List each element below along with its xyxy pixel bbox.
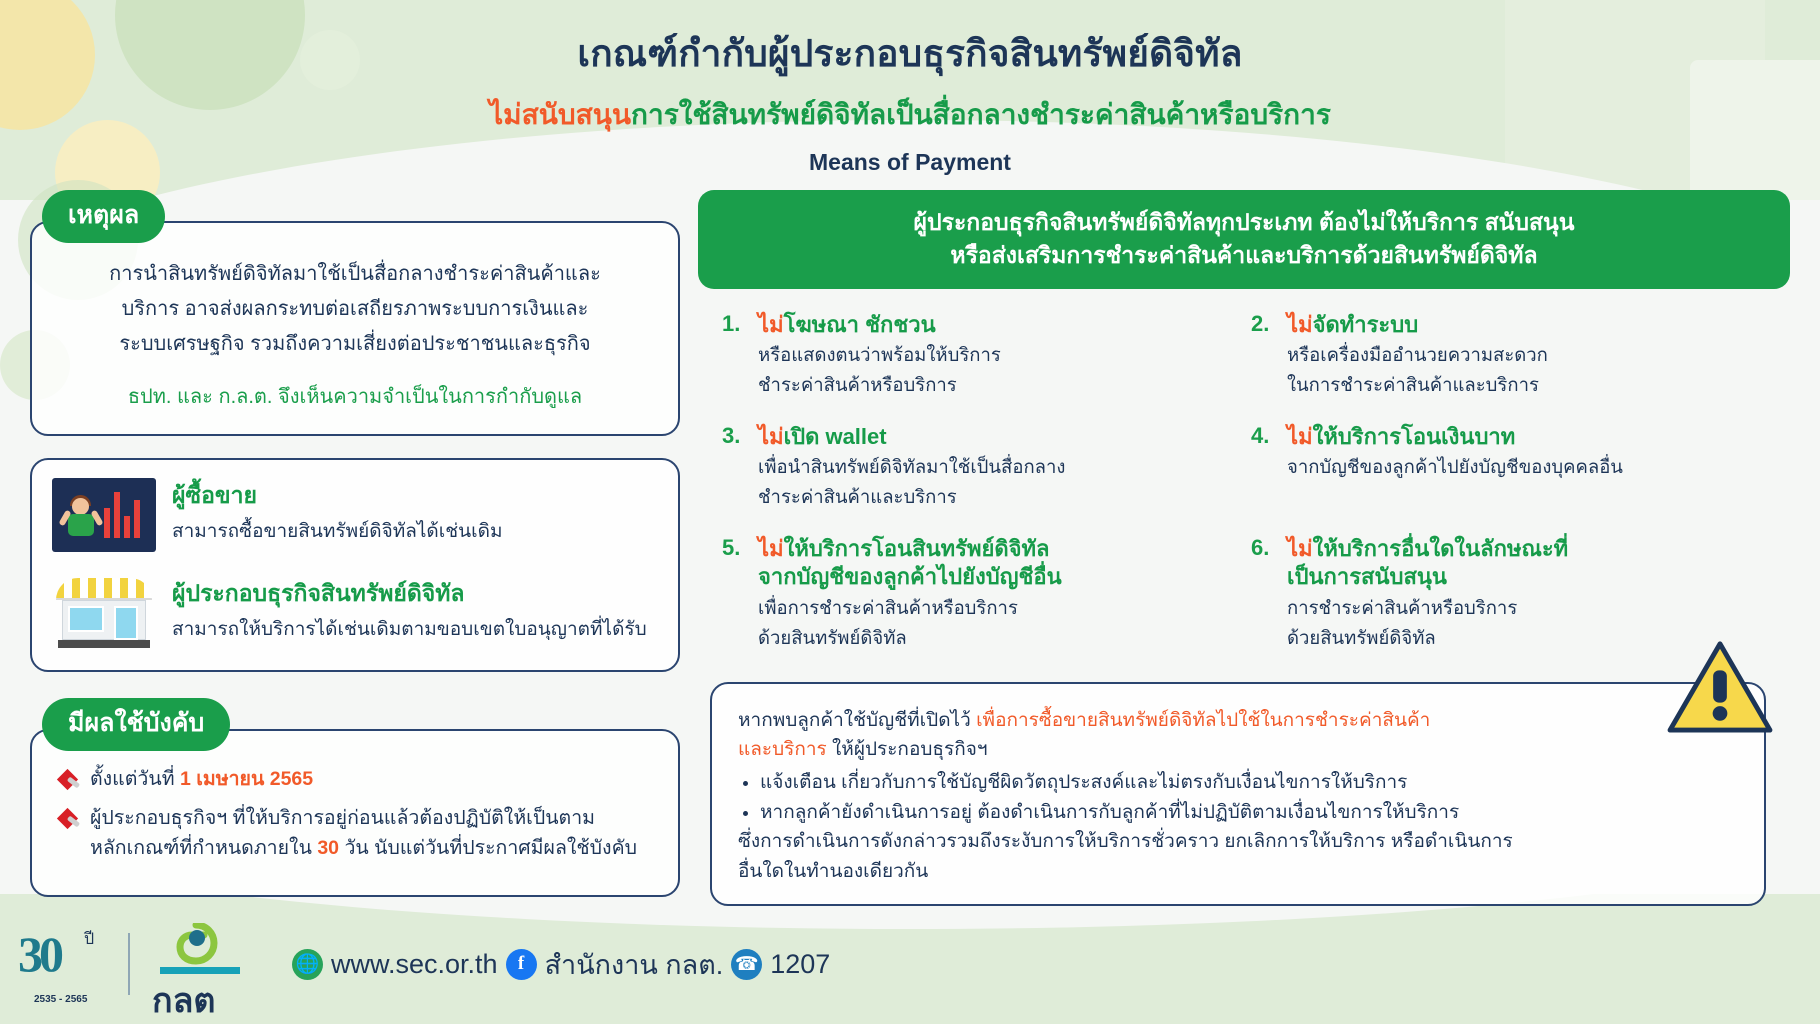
rule-number: 1. [722, 311, 748, 399]
actor-row-business: ผู้ประกอบธุรกิจสินทรัพย์ดิจิทัล สามารถให… [52, 576, 658, 650]
rule-heading: ไม่ให้บริการโอนเงินบาท [1287, 423, 1623, 452]
rule-number: 4. [1251, 423, 1277, 511]
rule-subtext-2: ในการชำระค่าสินค้าและบริการ [1287, 371, 1548, 399]
effective-date-prefix: ตั้งแต่วันที่ [90, 768, 180, 790]
effective-transition-text: ผู้ประกอบธุรกิจฯ ที่ให้บริการอยู่ก่อนแล้… [90, 804, 637, 863]
30th-anniversary-logo: 30 ปี 2535 - 2565 [18, 925, 114, 1003]
reason-section-pill: เหตุผล [42, 190, 165, 243]
list-item: ตั้งแต่วันที่ 1 เมษายน 2565 [58, 765, 654, 794]
website-url[interactable]: www.sec.or.th [331, 949, 498, 980]
rule-subtext-1: จากบัญชีของลูกค้าไปยังบัญชีของบุคคลอื่น [1287, 453, 1623, 481]
rule-heading: ไม่จัดทำระบบ [1287, 311, 1548, 340]
sec-emblem-icon [170, 923, 222, 965]
page-header: เกณฑ์กำกับผู้ประกอบธุรกิจสินทรัพย์ดิจิทั… [0, 0, 1820, 176]
transition-line-2-prefix: หลักเกณฑ์ที่กำหนดภายใน [90, 837, 317, 859]
rule-heading-main: ให้บริการโอนเงินบาท [1313, 424, 1516, 449]
list-item: แจ้งเตือน เกี่ยวกับการใช้บัญชีผิดวัตถุปร… [760, 768, 1738, 797]
rule-heading-negation: ไม่ [758, 536, 784, 561]
page-footer: 30 ปี 2535 - 2565 กลต 🌐 www.sec.or.th f … [0, 904, 1820, 1024]
actor-title: ผู้ประกอบธุรกิจสินทรัพย์ดิจิทัล [172, 576, 647, 612]
warning-tail-2: อื่นใดในทำนองเดียวกัน [738, 857, 1738, 886]
footer-contacts: 🌐 www.sec.or.th f สำนักงาน กลต. ☎ 1207 [292, 943, 830, 986]
warning-intro: หากพบลูกค้าใช้บัญชีที่เปิดไว้ เพื่อการซื… [738, 706, 1738, 765]
rule-heading-negation: ไม่ [758, 312, 784, 337]
transition-days-highlight: 30 [317, 837, 339, 859]
rule-subtext-1: หรือเครื่องมืออำนวยความสะดวก [1287, 341, 1548, 369]
effective-panel: ตั้งแต่วันที่ 1 เมษายน 2565 ผู้ประกอบธุร… [30, 729, 680, 897]
transition-line-2-suffix: วัน นับแต่วันที่ประกาศมีผลใช้บังคับ [339, 837, 637, 859]
rule-subtext-1: หรือแสดงตนว่าพร้อมให้บริการ [758, 341, 1001, 369]
left-column: เหตุผล การนำสินทรัพย์ดิจิทัลมาใช้เป็นสื่… [30, 190, 680, 906]
rule-subtext-1: การชำระค่าสินค้าหรือบริการ [1287, 594, 1568, 622]
actors-card: ผู้ซื้อขาย สามารถซื้อขายสินทรัพย์ดิจิทัล… [30, 458, 680, 672]
reason-note: ธปท. และ ก.ล.ต. จึงเห็นความจำเป็นในการกำ… [54, 380, 656, 412]
rule-heading-main: โฆษณา ชักชวน [784, 312, 936, 337]
warning-exclamation-icon [1666, 638, 1774, 734]
rule-item-6: 6. ไม่ให้บริการอื่นใดในลักษณะที่ เป็นการ… [1251, 535, 1780, 652]
page-title-english: Means of Payment [0, 149, 1820, 176]
actor-description: สามารถให้บริการได้เช่นเดิมตามขอบเขตใบอนุ… [172, 616, 647, 644]
reason-line-2: บริการ อาจส่งผลกระทบต่อเสถียรภาพระบบการเ… [54, 292, 656, 327]
reason-line-1: การนำสินทรัพย์ดิจิทัลมาใช้เป็นสื่อกลางชำ… [54, 257, 656, 292]
phone-icon: ☎ [731, 949, 762, 980]
sec-logo-name: กลต [152, 973, 216, 1024]
banner-line-2: หรือส่งเสริมการชำระค่าสินค้าและบริการด้ว… [722, 239, 1766, 272]
rule-subtext-2: ด้วยสินทรัพย์ดิจิทัล [1287, 624, 1568, 652]
rule-heading-main: เปิด wallet [784, 424, 887, 449]
rule-subtext-2: ด้วยสินทรัพย์ดิจิทัล [758, 624, 1062, 652]
page-subtitle: ไม่สนับสนุนการใช้สินทรัพย์ดิจิทัลเป็นสื่… [0, 93, 1820, 137]
rule-heading: ไม่ให้บริการอื่นใดในลักษณะที่ [1287, 535, 1568, 564]
rule-item-3: 3. ไม่เปิด wallet เพื่อนำสินทรัพย์ดิจิทั… [722, 423, 1251, 511]
rule-heading-negation: ไม่ [1287, 312, 1313, 337]
facebook-page-name[interactable]: สำนักงาน กลต. [545, 943, 724, 986]
warning-tail-1: ซึ่งการดำเนินการดังกล่าวรวมถึงระงับการให… [738, 827, 1738, 856]
rule-heading-negation: ไม่ [758, 424, 784, 449]
rule-heading-main: ให้บริการโอนสินทรัพย์ดิจิทัล [784, 536, 1050, 561]
warning-bullet-list: แจ้งเตือน เกี่ยวกับการใช้บัญชีผิดวัตถุปร… [760, 768, 1738, 827]
rule-item-2: 2. ไม่จัดทำระบบ หรือเครื่องมืออำนวยความส… [1251, 311, 1780, 399]
rule-item-5: 5. ไม่ให้บริการโอนสินทรัพย์ดิจิทัล จากบั… [722, 535, 1251, 652]
footer-divider [128, 933, 130, 995]
prohibition-banner: ผู้ประกอบธุรกิจสินทรัพย์ดิจิทัลทุกประเภท… [698, 190, 1790, 289]
rule-heading-main: ให้บริการอื่นใดในลักษณะที่ [1313, 536, 1569, 561]
rule-heading-main: จัดทำระบบ [1313, 312, 1419, 337]
actor-description: สามารถซื้อขายสินทรัพย์ดิจิทัลได้เช่นเดิม [172, 518, 503, 546]
rule-heading-line-2: จากบัญชีของลูกค้าไปยังบัญชีอื่น [758, 563, 1062, 592]
warning-line2-dark: ให้ผู้ประกอบธุรกิจฯ [832, 739, 988, 760]
rule-item-4: 4. ไม่ให้บริการโอนเงินบาท จากบัญชีของลูก… [1251, 423, 1780, 511]
main-columns: เหตุผล การนำสินทรัพย์ดิจิทัลมาใช้เป็นสื่… [0, 176, 1820, 906]
reason-line-3: ระบบเศรษฐกิจ รวมถึงความเสี่ยงต่อประชาชนแ… [54, 327, 656, 362]
list-item: ผู้ประกอบธุรกิจฯ ที่ให้บริการอยู่ก่อนแล้… [58, 804, 654, 863]
rule-number: 2. [1251, 311, 1277, 399]
rule-heading-line-2: เป็นการสนับสนุน [1287, 563, 1568, 592]
effective-list: ตั้งแต่วันที่ 1 เมษายน 2565 ผู้ประกอบธุร… [52, 761, 658, 877]
rule-number: 6. [1251, 535, 1277, 652]
rule-heading-negation: ไม่ [1287, 536, 1313, 561]
stock-chart-trader-icon [52, 478, 156, 552]
effective-date-highlight: 1 เมษายน 2565 [180, 768, 313, 790]
subtitle-orange-part: ไม่สนับสนุน [489, 99, 631, 130]
rule-heading: ไม่ให้บริการโอนสินทรัพย์ดิจิทัล [758, 535, 1062, 564]
facebook-icon: f [506, 949, 537, 980]
banner-line-1: ผู้ประกอบธุรกิจสินทรัพย์ดิจิทัลทุกประเภท… [722, 206, 1766, 239]
effective-section-pill: มีผลใช้บังคับ [42, 698, 230, 751]
warning-line1-dark: หากพบลูกค้าใช้บัญชีที่เปิดไว้ [738, 710, 976, 731]
effective-date-text: ตั้งแต่วันที่ 1 เมษายน 2565 [90, 765, 313, 794]
warning-line1-orange: เพื่อการซื้อขายสินทรัพย์ดิจิทัลไปใช้ในกา… [976, 710, 1430, 731]
list-item: หากลูกค้ายังดำเนินการอยู่ ต้องดำเนินการก… [760, 798, 1738, 827]
right-column: ผู้ประกอบธุรกิจสินทรัพย์ดิจิทัลทุกประเภท… [698, 190, 1790, 906]
transition-line-1: ผู้ประกอบธุรกิจฯ ที่ให้บริการอยู่ก่อนแล้… [90, 807, 595, 829]
rule-number: 5. [722, 535, 748, 652]
actor-row-trader: ผู้ซื้อขาย สามารถซื้อขายสินทรัพย์ดิจิทัล… [52, 478, 658, 552]
page-title: เกณฑ์กำกับผู้ประกอบธุรกิจสินทรัพย์ดิจิทั… [0, 24, 1820, 83]
rule-subtext-2: ชำระค่าสินค้าและบริการ [758, 483, 1065, 511]
shop-storefront-icon [52, 576, 156, 650]
subtitle-green-part: การใช้สินทรัพย์ดิจิทัลเป็นสื่อกลางชำระค่… [631, 99, 1331, 130]
anniversary-years: 2535 - 2565 [34, 994, 87, 1005]
diamond-bullet-icon [58, 770, 78, 790]
warning-line2-orange: และบริการ [738, 739, 832, 760]
warning-panel: หากพบลูกค้าใช้บัญชีที่เปิดไว้ เพื่อการซื… [710, 682, 1766, 907]
phone-number[interactable]: 1207 [770, 949, 830, 980]
rule-number: 3. [722, 423, 748, 511]
rule-subtext-1: เพื่อการชำระค่าสินค้าหรือบริการ [758, 594, 1062, 622]
reason-panel: การนำสินทรัพย์ดิจิทัลมาใช้เป็นสื่อกลางชำ… [30, 221, 680, 436]
anniversary-unit: ปี [84, 927, 94, 952]
rule-heading-negation: ไม่ [1287, 424, 1313, 449]
actor-title: ผู้ซื้อขาย [172, 478, 503, 514]
rule-heading: ไม่โฆษณา ชักชวน [758, 311, 1001, 340]
diamond-bullet-icon [58, 809, 78, 829]
rules-grid: 1. ไม่โฆษณา ชักชวน หรือแสดงตนว่าพร้อมให้… [698, 289, 1790, 676]
rule-subtext-1: เพื่อนำสินทรัพย์ดิจิทัลมาใช้เป็นสื่อกลาง [758, 453, 1065, 481]
rule-subtext-2: ชำระค่าสินค้าหรือบริการ [758, 371, 1001, 399]
globe-icon: 🌐 [292, 949, 323, 980]
rule-item-1: 1. ไม่โฆษณา ชักชวน หรือแสดงตนว่าพร้อมให้… [722, 311, 1251, 399]
anniversary-number: 30 [18, 926, 60, 982]
sec-organization-logo: กลต [144, 923, 264, 1005]
rule-heading: ไม่เปิด wallet [758, 423, 1065, 452]
